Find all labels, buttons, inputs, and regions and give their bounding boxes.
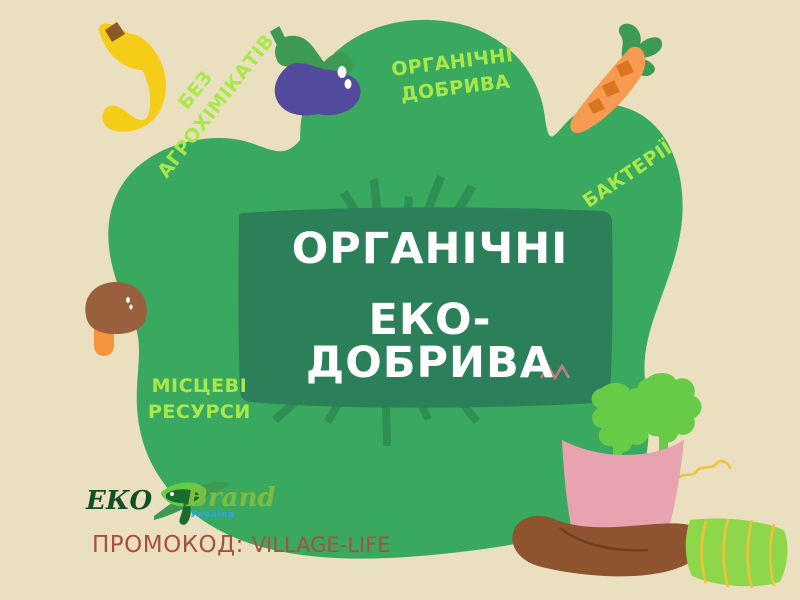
promo-prefix: ПРОМОКОД: bbox=[92, 532, 244, 558]
logo-brand-text: Brand bbox=[186, 483, 276, 513]
promo-code-value: VILLAGE-LIFE bbox=[252, 533, 391, 557]
feature-label-line1: МІСЦЕВІ bbox=[148, 374, 251, 400]
poster-canvas: БЕЗ АГРОХІМІКАТІВ ОРГАНІЧНІ ДОБРИВА БАКТ… bbox=[0, 0, 800, 600]
feature-label-local-resources: МІСЦЕВІ РЕСУРСИ bbox=[148, 374, 251, 425]
feature-label-line2: РЕСУРСИ bbox=[148, 400, 251, 426]
promo-code-text: ПРОМОКОД: VILLAGE-LIFE bbox=[92, 532, 390, 558]
logo-ukraine-text: Україна bbox=[190, 510, 234, 520]
headline: ОРГАНІЧНІ ЕКО-ДОБРИВА bbox=[248, 228, 612, 385]
logo-eko-text: ЕКО bbox=[86, 486, 152, 516]
brand-logo[interactable]: ЕКО Brand Україна bbox=[86, 476, 266, 528]
headline-line1: ОРГАНІЧНІ bbox=[248, 228, 612, 271]
headline-line2: ЕКО-ДОБРИВА bbox=[248, 299, 612, 385]
